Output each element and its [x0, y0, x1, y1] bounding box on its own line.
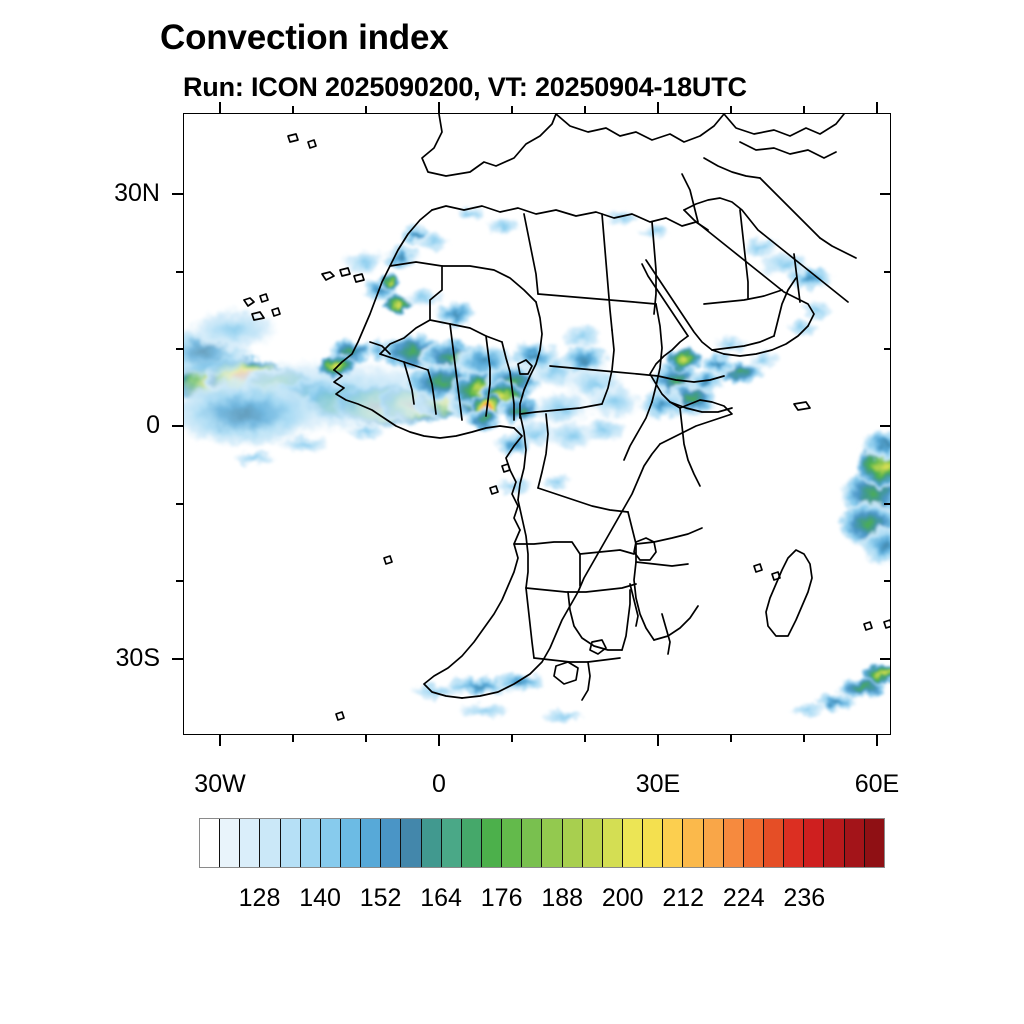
colorbar-band-3 — [260, 819, 280, 867]
y-tick-minor-10s — [176, 503, 183, 505]
x-tick-top-minor-50e — [803, 106, 805, 113]
run-valid-time-subtitle: Run: ICON 2025090200, VT: 20250904-18UTC — [183, 72, 747, 103]
x-tick-top-60e — [876, 102, 878, 113]
x-tick-top-minor-20w — [292, 106, 294, 113]
x-tick-top-minor-10w — [365, 106, 367, 113]
colorbar-band-7 — [341, 819, 361, 867]
y-tick-minor-20s — [176, 580, 183, 582]
colorbar-band-19 — [583, 819, 603, 867]
y-tick-right-minor-10s — [884, 503, 891, 505]
x-tick-minor-20e — [584, 735, 586, 742]
y-tick-minor-20n — [176, 271, 183, 273]
colorbar-band-8 — [361, 819, 381, 867]
y-tick-0 — [172, 425, 183, 427]
colorbar-band-21 — [623, 819, 643, 867]
page-title: Convection index — [160, 18, 449, 58]
colorbar-band-9 — [381, 819, 401, 867]
y-tick-right-0 — [880, 425, 891, 427]
x-tick-minor-10w — [365, 735, 367, 742]
y-axis-label-30s: 30S — [30, 644, 160, 673]
colorbar-band-27 — [744, 819, 764, 867]
y-axis-label-0: 0 — [30, 411, 160, 440]
x-tick-top-30e — [657, 102, 659, 113]
y-tick-minor-10n — [176, 348, 183, 350]
colorbar-band-4 — [281, 819, 301, 867]
colorbar-band-30 — [804, 819, 824, 867]
colorbar-band-13 — [462, 819, 482, 867]
y-axis-label-30n: 30N — [30, 179, 160, 208]
y-tick-right-minor-20s — [884, 580, 891, 582]
colorbar-band-28 — [764, 819, 784, 867]
colorbar-band-2 — [240, 819, 260, 867]
x-axis-label-0: 0 — [379, 770, 499, 799]
colorbar-band-24 — [683, 819, 703, 867]
colorbar-band-33 — [865, 819, 884, 867]
colorbar-band-18 — [563, 819, 583, 867]
colorbar-band-22 — [643, 819, 663, 867]
x-tick-top-minor-20e — [584, 106, 586, 113]
x-tick-30e — [657, 735, 659, 746]
x-tick-top-30w — [219, 102, 221, 113]
colorbar-band-5 — [301, 819, 321, 867]
colorbar-tick-236: 236 — [764, 884, 844, 913]
colorbar-band-23 — [663, 819, 683, 867]
colorbar — [199, 818, 885, 868]
x-tick-minor-50e — [803, 735, 805, 742]
y-tick-right-minor-20n — [884, 271, 891, 273]
colorbar-band-12 — [442, 819, 462, 867]
colorbar-band-1 — [220, 819, 240, 867]
colorbar-band-26 — [724, 819, 744, 867]
colorbar-band-11 — [422, 819, 442, 867]
x-tick-top-minor-10e — [511, 106, 513, 113]
colorbar-band-6 — [321, 819, 341, 867]
colorbar-band-16 — [522, 819, 542, 867]
x-tick-minor-20w — [292, 735, 294, 742]
y-tick-right-30s — [880, 658, 891, 660]
colorbar-band-31 — [824, 819, 844, 867]
map-clip — [184, 114, 890, 734]
x-axis-label-30w: 30W — [160, 770, 280, 799]
y-tick-30s — [172, 658, 183, 660]
map-canvas — [184, 114, 890, 734]
x-axis-label-30e: 30E — [598, 770, 718, 799]
colorbar-band-20 — [603, 819, 623, 867]
colorbar-band-17 — [542, 819, 562, 867]
y-tick-right-30n — [880, 193, 891, 195]
x-tick-60e — [876, 735, 878, 746]
x-tick-30w — [219, 735, 221, 746]
colorbar-band-0 — [200, 819, 220, 867]
x-tick-0 — [438, 735, 440, 746]
colorbar-band-25 — [704, 819, 724, 867]
colorbar-band-10 — [401, 819, 421, 867]
x-tick-minor-10e — [511, 735, 513, 742]
y-tick-right-minor-10n — [884, 348, 891, 350]
y-tick-30n — [172, 193, 183, 195]
colorbar-band-32 — [845, 819, 865, 867]
convection-index-map-figure: Convection index Run: ICON 2025090200, V… — [0, 0, 1024, 1024]
x-tick-minor-40e — [730, 735, 732, 742]
x-axis-label-60e: 60E — [817, 770, 937, 799]
x-tick-top-minor-40e — [730, 106, 732, 113]
colorbar-band-15 — [502, 819, 522, 867]
colorbar-band-29 — [784, 819, 804, 867]
colorbar-band-14 — [482, 819, 502, 867]
x-tick-top-0 — [438, 102, 440, 113]
map-plot-area — [183, 113, 891, 735]
